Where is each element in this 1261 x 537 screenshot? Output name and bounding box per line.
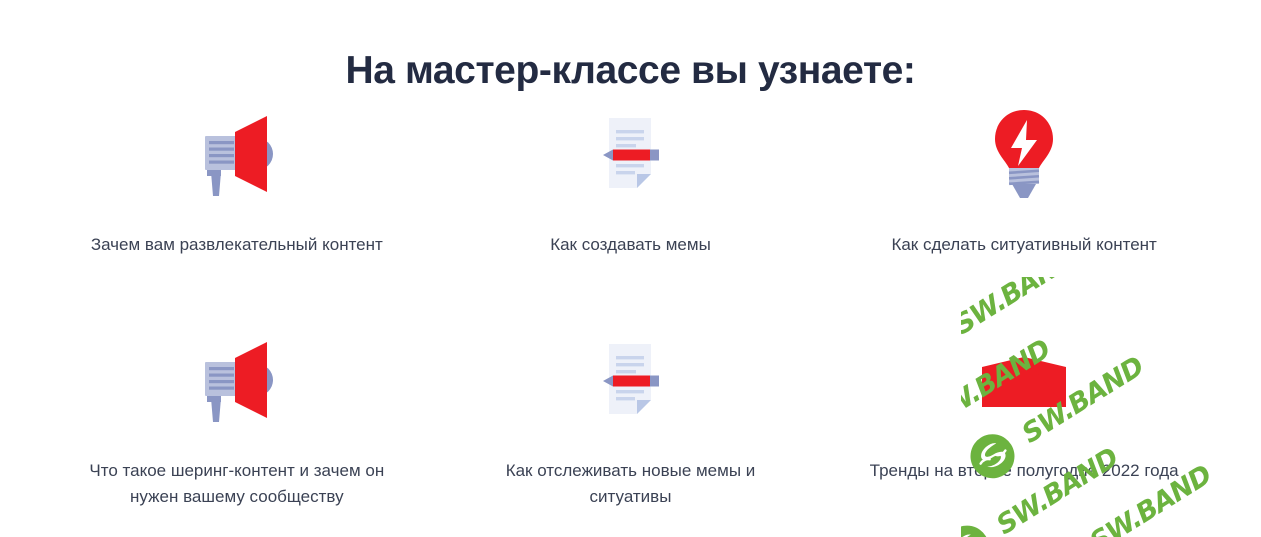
landing-section: На мастер-классе вы узнаете: Зачем вам р… bbox=[0, 0, 1261, 537]
feature-label: Как сделать ситуативный контент bbox=[891, 232, 1156, 258]
page-title: На мастер-классе вы узнаете: bbox=[0, 48, 1261, 94]
features-grid: Зачем вам развлекательный контент Ка bbox=[40, 104, 1221, 537]
document-marker-icon bbox=[575, 330, 685, 430]
lightbulb-bolt-icon bbox=[969, 104, 1079, 204]
feature-item: Что такое шеринг-контент и зачем он нуже… bbox=[40, 330, 434, 537]
feature-item: Как создавать мемы bbox=[434, 104, 828, 330]
feature-item: Тренды на второе полугодие 2022 года bbox=[827, 330, 1221, 537]
megaphone-icon bbox=[182, 330, 292, 430]
feature-label: Зачем вам развлекательный контент bbox=[91, 232, 383, 258]
megaphone-icon bbox=[182, 104, 292, 204]
feature-item: Как сделать ситуативный контент bbox=[827, 104, 1221, 330]
feature-label: Как создавать мемы bbox=[550, 232, 711, 258]
feature-label: Что такое шеринг-контент и зачем он нуже… bbox=[87, 458, 387, 511]
feature-item: Как отслеживать новые мемы и ситуативы bbox=[434, 330, 828, 537]
document-marker-icon bbox=[575, 104, 685, 204]
feature-label: Тренды на второе полугодие 2022 года bbox=[870, 458, 1179, 484]
feature-label: Как отслеживать новые мемы и ситуативы bbox=[480, 458, 780, 511]
crown-icon bbox=[969, 330, 1079, 430]
feature-item: Зачем вам развлекательный контент bbox=[40, 104, 434, 330]
